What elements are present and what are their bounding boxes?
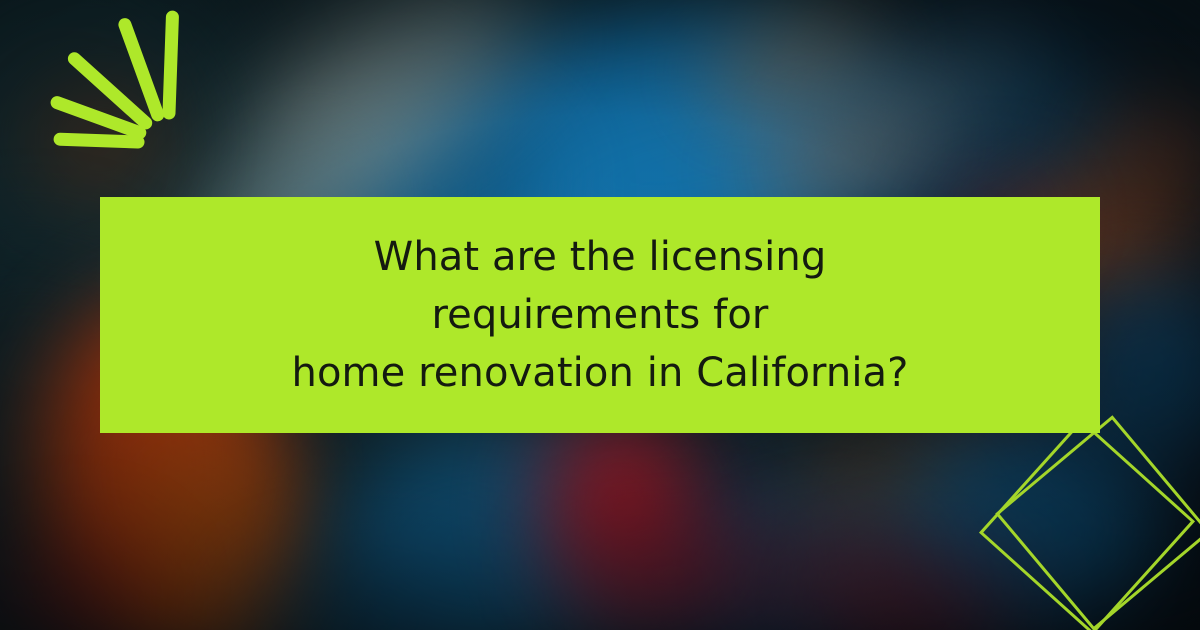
page-title: What are the licensing requirements for … [255, 228, 945, 402]
headline-panel: What are the licensing requirements for … [100, 197, 1100, 433]
share-card-canvas: What are the licensing requirements for … [0, 0, 1200, 630]
